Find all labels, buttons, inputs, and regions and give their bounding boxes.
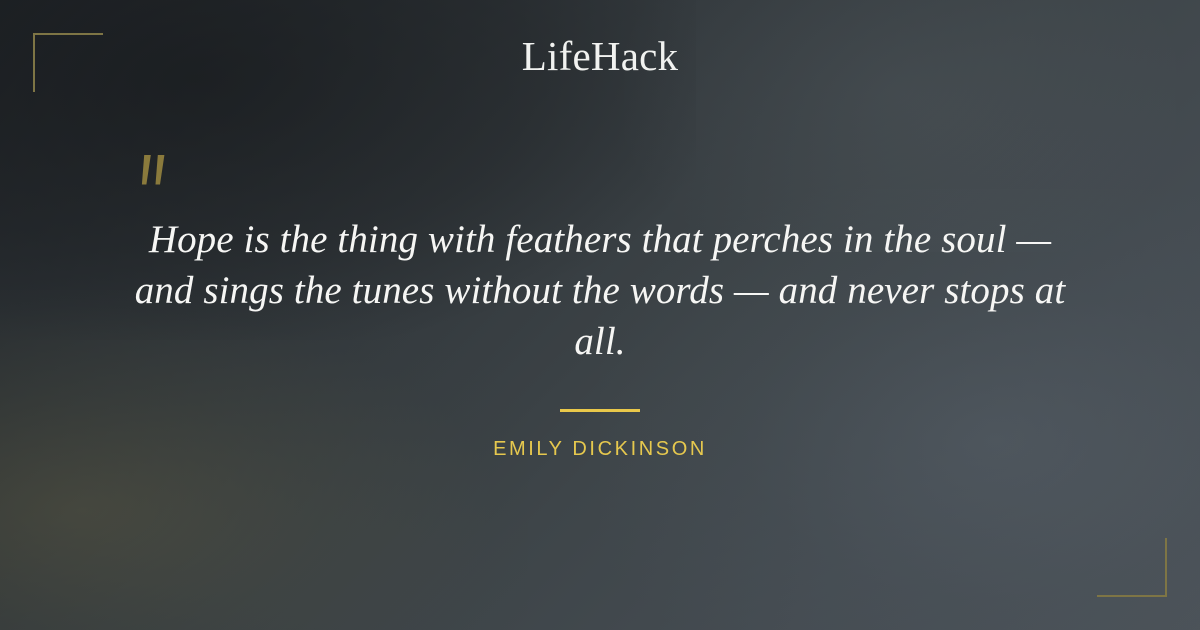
brand-logo: LifeHack: [0, 36, 1200, 77]
attribution-divider: [560, 409, 640, 412]
quote-line: all.: [0, 316, 1200, 367]
card-content: LifeHack Hope is the thing with feathers…: [0, 0, 1200, 630]
quote-line: Hope is the thing with feathers that per…: [0, 214, 1200, 265]
quote-line: and sings the tunes without the words — …: [0, 265, 1200, 316]
quote-text: Hope is the thing with feathers that per…: [0, 214, 1200, 367]
quotation-mark-icon: [131, 133, 181, 191]
quote-card: LifeHack Hope is the thing with feathers…: [0, 0, 1200, 630]
quote-author: EMILY DICKINSON: [0, 438, 1200, 461]
